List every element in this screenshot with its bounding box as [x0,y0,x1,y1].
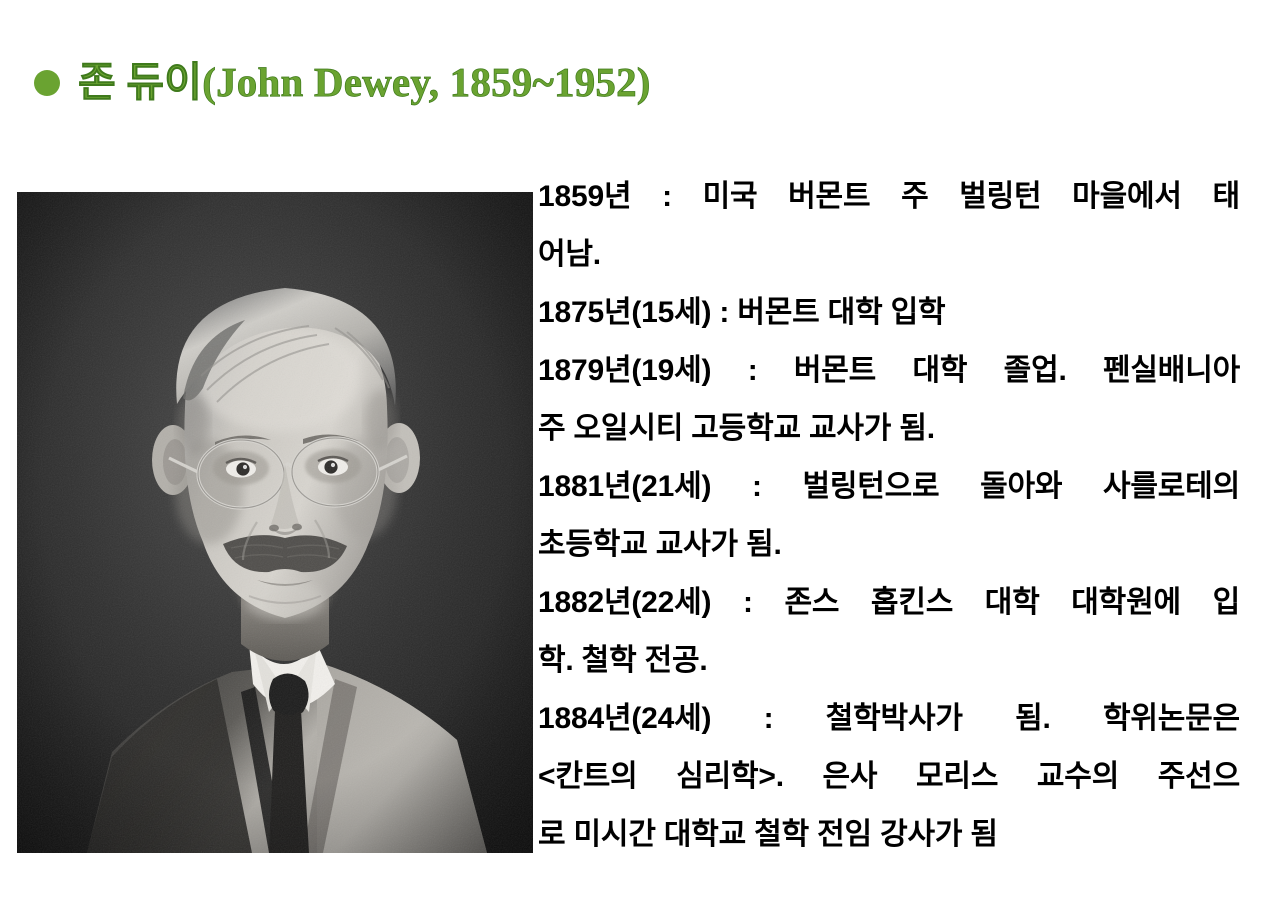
bio-word: 졸업. [1004,342,1067,400]
bio-word: 심리학>. [676,748,784,806]
bio-word: 홉킨스 [871,574,953,632]
filled-circle-bullet-icon [34,70,60,96]
bio-line: 1859년:미국버몬트주벌링턴마을에서태 [538,168,1240,226]
bio-word: 학위논문은 [1103,690,1240,748]
bio-word: 철학박사가 [826,690,963,748]
bio-word: 교수의 [1037,748,1119,806]
bio-word: 버몬트 [794,342,876,400]
bio-line: 1875년(15세) : 버몬트 대학 입학 [538,284,1240,342]
bio-word: 태 [1213,168,1240,226]
portrait-photo-graphic [17,192,533,853]
bio-word: : [752,458,762,516]
bio-word: 벌링턴 [959,168,1041,226]
bio-word: 미국 [703,168,758,226]
slide-root: 존 듀이(John Dewey, 1859~1952) [0,0,1280,905]
bio-word: 입 [1213,574,1240,632]
bio-word: 1859년 [538,168,631,226]
bio-word: : [764,690,774,748]
bio-word: 1881년(21세) [538,458,711,516]
bio-word: 대학원에 [1071,574,1181,632]
bio-word: 모리스 [916,748,998,806]
bio-word: : [748,342,758,400]
bio-word: 주선으 [1158,748,1240,806]
bio-word: 존스 [784,574,839,632]
bio-line: 어남. [538,226,1240,284]
bio-word: 됨. [1015,690,1051,748]
biography-text: 1859년:미국버몬트주벌링턴마을에서태 어남. 1875년(15세) : 버몬… [538,168,1240,864]
bio-line: 학. 철학 전공. [538,632,1240,690]
bio-word: 1879년(19세) [538,342,711,400]
bio-word: 사를로테의 [1103,458,1240,516]
bio-word: <칸트의 [538,748,638,806]
page-title-text: 존 듀이(John Dewey, 1859~1952) [78,62,651,103]
bio-word: 1884년(24세) [538,690,711,748]
bio-line: 초등학교 교사가 됨. [538,516,1240,574]
bio-word: 펜실배니아 [1103,342,1240,400]
portrait-photo [17,192,533,853]
bio-line: 주 오일시티 고등학교 교사가 됨. [538,400,1240,458]
bio-line: 1882년(22세):존스홉킨스대학대학원에입 [538,574,1240,632]
bio-word: 벌링턴으로 [802,458,939,516]
page-title: 존 듀이(John Dewey, 1859~1952) [34,62,651,103]
bio-word: 은사 [823,748,878,806]
bio-word: 대학 [985,574,1040,632]
bio-word: : [662,168,672,226]
bio-word: : [743,574,753,632]
bio-word: 버몬트 [788,168,870,226]
bio-word: 1882년(22세) [538,574,711,632]
bio-word: 대학 [912,342,967,400]
bio-line: 로 미시간 대학교 철학 전임 강사가 됨 [538,806,1240,864]
bio-word: 주 [901,168,928,226]
bio-line: <칸트의심리학>.은사모리스교수의주선으 [538,748,1240,806]
bio-line: 1879년(19세):버몬트대학졸업.펜실배니아 [538,342,1240,400]
bio-word: 마을에서 [1072,168,1182,226]
bio-line: 1881년(21세):벌링턴으로돌아와사를로테의 [538,458,1240,516]
bio-word: 돌아와 [980,458,1062,516]
bio-line: 1884년(24세):철학박사가됨.학위논문은 [538,690,1240,748]
